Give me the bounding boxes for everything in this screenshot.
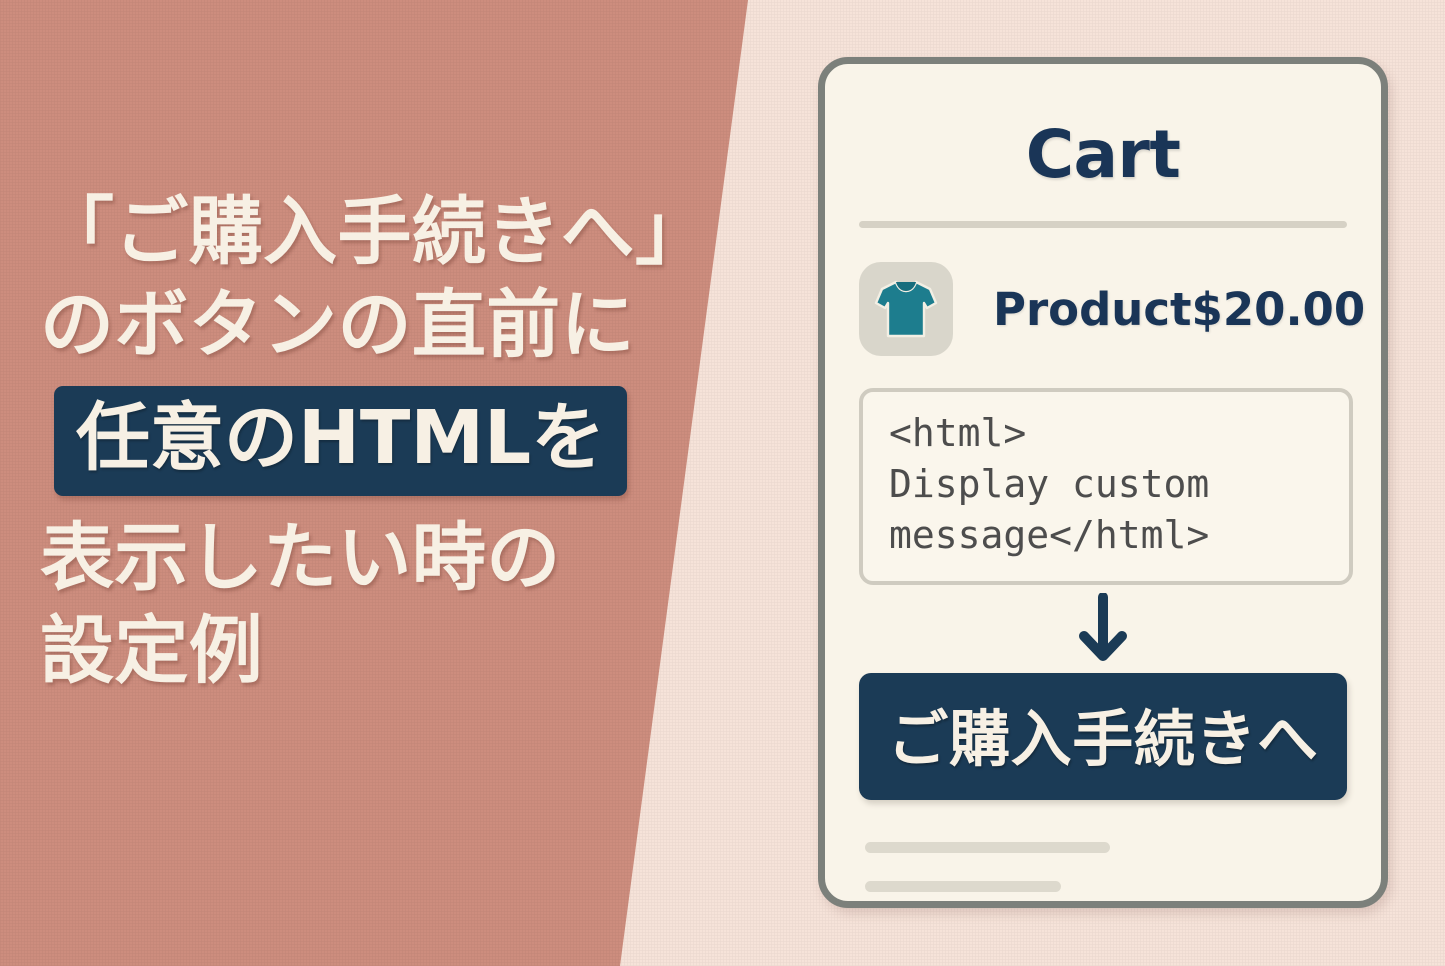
headline-block: 「ご購入手続きへ」 のボタンの直前に 任意のHTMLを 表示したい時の 設定例 — [40, 186, 700, 698]
headline-line-2: のボタンの直前に — [40, 279, 700, 372]
arrow-down-icon-wrapper — [825, 593, 1381, 667]
checkout-button[interactable]: ご購入手続きへ — [859, 673, 1347, 800]
cart-card: Cart Product $20.00 <html> Display custo… — [818, 57, 1388, 908]
placeholder-text-lines — [865, 842, 1381, 892]
code-line-1: <html> — [889, 408, 1327, 459]
checkout-button-label: ご購入手続きへ — [887, 704, 1318, 775]
tshirt-icon — [859, 262, 953, 356]
headline-line-5: 設定例 — [40, 605, 700, 698]
custom-html-code-box[interactable]: <html> Display custom message</html> — [859, 388, 1353, 585]
product-price: $20.00 — [1192, 283, 1366, 336]
cart-divider — [859, 221, 1347, 228]
code-line-2: Display custom — [889, 459, 1327, 510]
placeholder-line-2 — [865, 881, 1061, 892]
cart-page-title: Cart — [825, 116, 1381, 193]
headline-line-1: 「ご購入手続きへ」 — [40, 186, 700, 279]
code-line-3: message</html> — [889, 510, 1327, 561]
headline-highlight-box: 任意のHTMLを — [54, 386, 627, 495]
placeholder-line-1 — [865, 842, 1110, 853]
cart-line-item: Product $20.00 — [859, 262, 1347, 356]
poster-canvas: 「ご購入手続きへ」 のボタンの直前に 任意のHTMLを 表示したい時の 設定例 … — [0, 0, 1445, 966]
headline-line-4: 表示したい時の — [40, 512, 700, 605]
arrow-down-icon — [1074, 593, 1132, 667]
product-name: Product — [993, 283, 1192, 336]
